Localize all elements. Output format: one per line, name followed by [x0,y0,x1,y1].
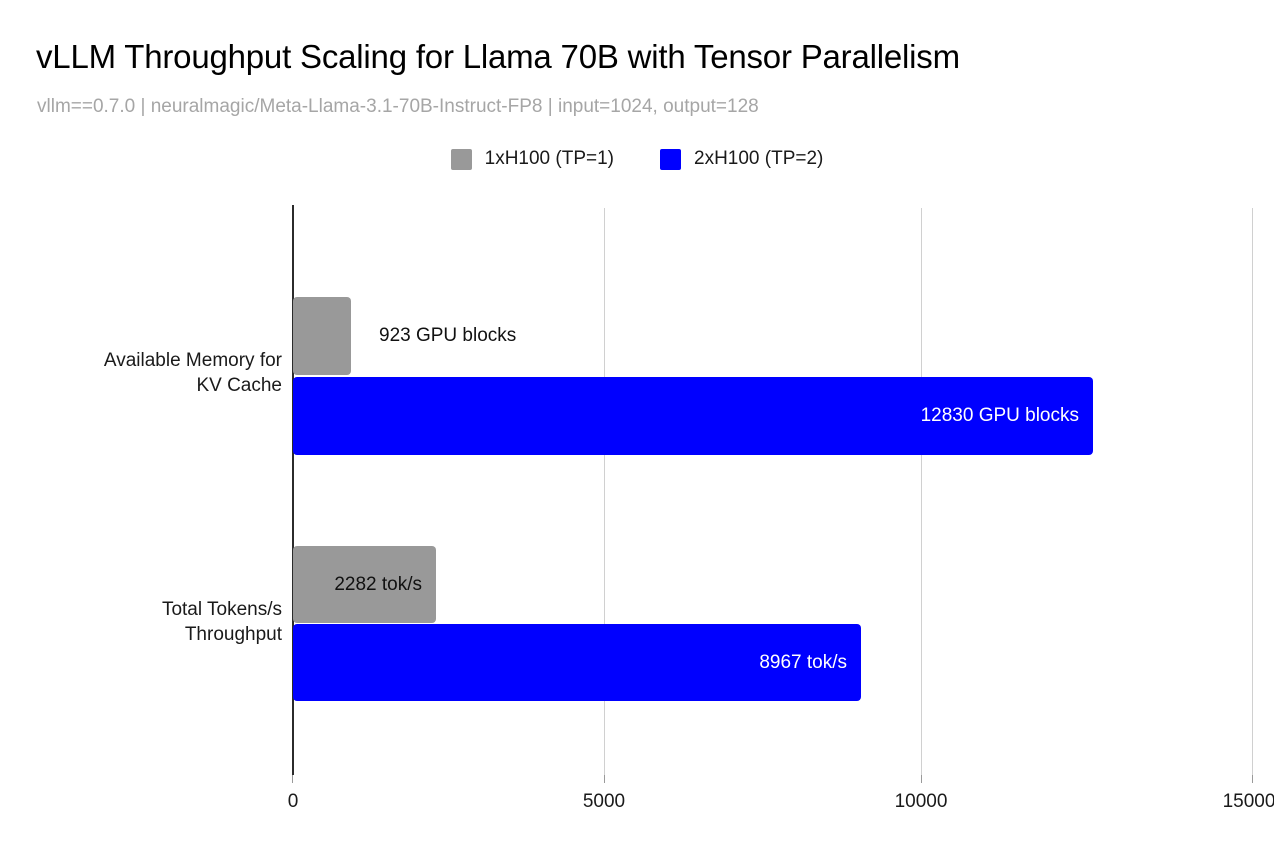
category-label-throughput: Total Tokens/s Throughput [42,597,282,647]
bar-value-label-kv-cache-tp2: 12830 GPU blocks [921,377,1079,455]
x-tick-label-15000: 15000 [1223,791,1274,813]
x-tick-label-10000: 10000 [895,791,948,813]
bar-value-label-kv-cache-tp1: 923 GPU blocks [379,297,516,375]
gridline-10000 [921,208,922,775]
plot-area: 0 5000 10000 15000 Available Memory for … [0,0,1274,868]
bar-throughput-tp1[interactable]: 2282 tok/s [293,546,436,623]
x-tick-mark-5000 [604,775,605,783]
x-tick-label-5000: 5000 [583,791,625,813]
bar-kv-cache-tp2[interactable]: 12830 GPU blocks [293,377,1093,455]
gridline-15000 [1252,208,1253,775]
x-tick-mark-0 [292,775,293,783]
bar-value-label-throughput-tp2: 8967 tok/s [759,624,847,701]
bar-kv-cache-tp1[interactable]: 923 GPU blocks [293,297,351,375]
x-tick-mark-15000 [1252,775,1253,783]
x-tick-mark-10000 [921,775,922,783]
bar-throughput-tp2[interactable]: 8967 tok/s [293,624,861,701]
bar-value-label-throughput-tp1: 2282 tok/s [334,546,422,623]
x-tick-label-0: 0 [288,791,299,813]
category-label-kv-cache: Available Memory for KV Cache [42,348,282,398]
